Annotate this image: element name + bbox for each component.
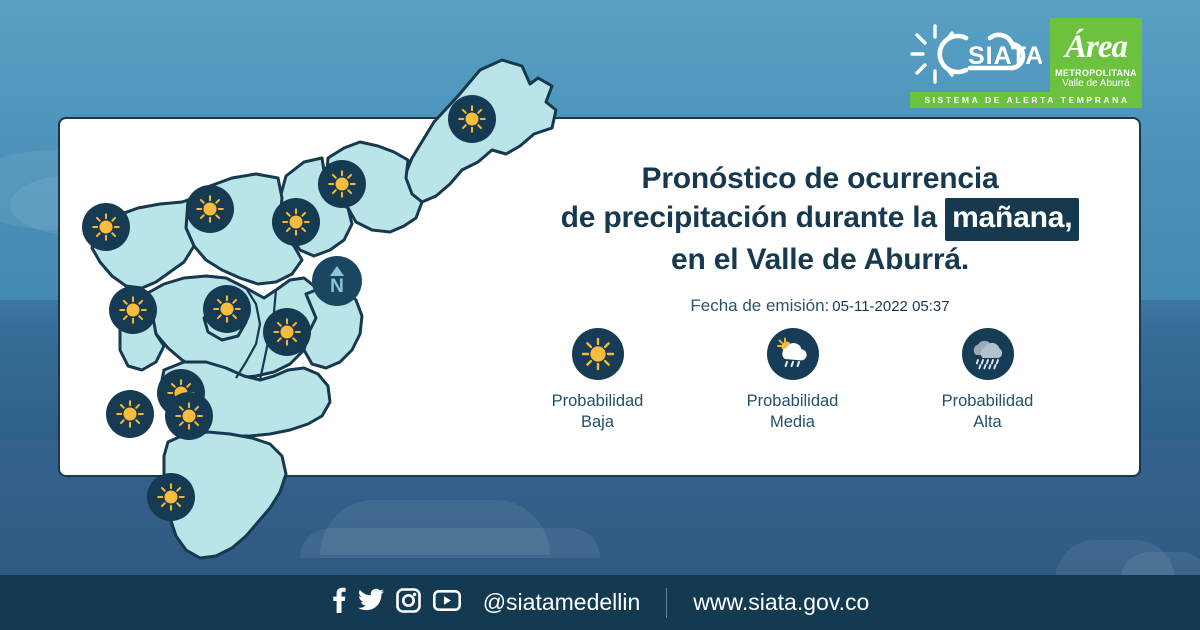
marker-medellin [203,285,251,333]
marker-sabaneta [106,390,154,438]
legend-item-media: Probabilidad Media [708,328,878,434]
area-logo-script: Área [1050,18,1142,64]
legend-label-alta: Probabilidad Alta [903,391,1073,434]
marker-girardota [318,160,366,208]
logo-group: SIATA Área METROPOLITANA Valle de Aburrá [902,18,1142,96]
marker-caldas-sur [147,473,195,521]
legend-label-baja: Probabilidad Baja [513,391,683,434]
cloud-heavy-rain-icon [962,328,1014,380]
website-url[interactable]: www.siata.gov.co [693,589,869,616]
marker-copacabana [272,198,320,246]
emission-date: Fecha de emisión:05-11-2022 05:37 [520,296,1120,316]
title-line-2-pre: de precipitación durante la [561,201,946,234]
marker-barbosa [448,95,496,143]
area-logo-line1: METROPOLITANA [1050,68,1142,78]
title-line-3: en el Valle de Aburrá. [520,241,1120,279]
emission-label: Fecha de emisión: [690,296,829,315]
footer-divider [666,588,667,618]
sun-icon [572,328,624,380]
emission-value: 05-11-2022 05:37 [832,298,949,315]
decorative-cloud-bottom-center-2 [300,528,600,558]
marker-bello [186,185,234,233]
legend-alta-line2: Alta [903,412,1073,433]
compass-label: N [330,277,344,296]
area-metropolitana-logo: Área METROPOLITANA Valle de Aburrá [1050,18,1142,96]
legend-alta-line1: Probabilidad [903,391,1073,412]
title-line-1: Pronóstico de ocurrencia [520,160,1120,198]
sun-cloud-rain-icon [767,328,819,380]
facebook-icon[interactable] [331,587,346,618]
instagram-icon[interactable] [396,588,421,618]
legend-item-baja: Probabilidad Baja [513,328,683,434]
marker-itagui [109,286,157,334]
legend-media-line2: Media [708,412,878,433]
footer-bar: @siatamedellin www.siata.gov.co [0,575,1200,630]
social-icons [331,587,461,618]
title-line-2: de precipitación durante la mañana, [520,198,1120,240]
marker-caldas [165,392,213,440]
legend-label-media: Probabilidad Media [708,391,878,434]
forecast-text-block: Pronóstico de ocurrencia de precipitació… [520,160,1120,316]
marker-envigado [263,308,311,356]
page-title: Pronóstico de ocurrencia de precipitació… [520,160,1120,279]
siata-logo: SIATA [902,18,1042,90]
compass-arrow [330,266,344,276]
social-handle[interactable]: @siatamedellin [483,589,641,616]
legend-baja-line2: Baja [513,412,683,433]
area-logo-line2: Valle de Aburrá [1050,78,1142,89]
legend-item-alta: Probabilidad Alta [903,328,1073,434]
twitter-icon[interactable] [358,588,384,617]
legend-baja-line1: Probabilidad [513,391,683,412]
probability-legend: Probabilidad Baja Probabili [500,328,1085,434]
youtube-icon[interactable] [433,590,461,616]
title-highlight-manana: mañana, [945,198,1079,240]
north-arrow-icon: N [312,256,362,306]
svg-text:SIATA: SIATA [968,42,1042,70]
marker-san-pedro [82,203,130,251]
siata-tagline: SISTEMA DE ALERTA TEMPRANA [910,92,1142,108]
legend-media-line1: Probabilidad [708,391,878,412]
